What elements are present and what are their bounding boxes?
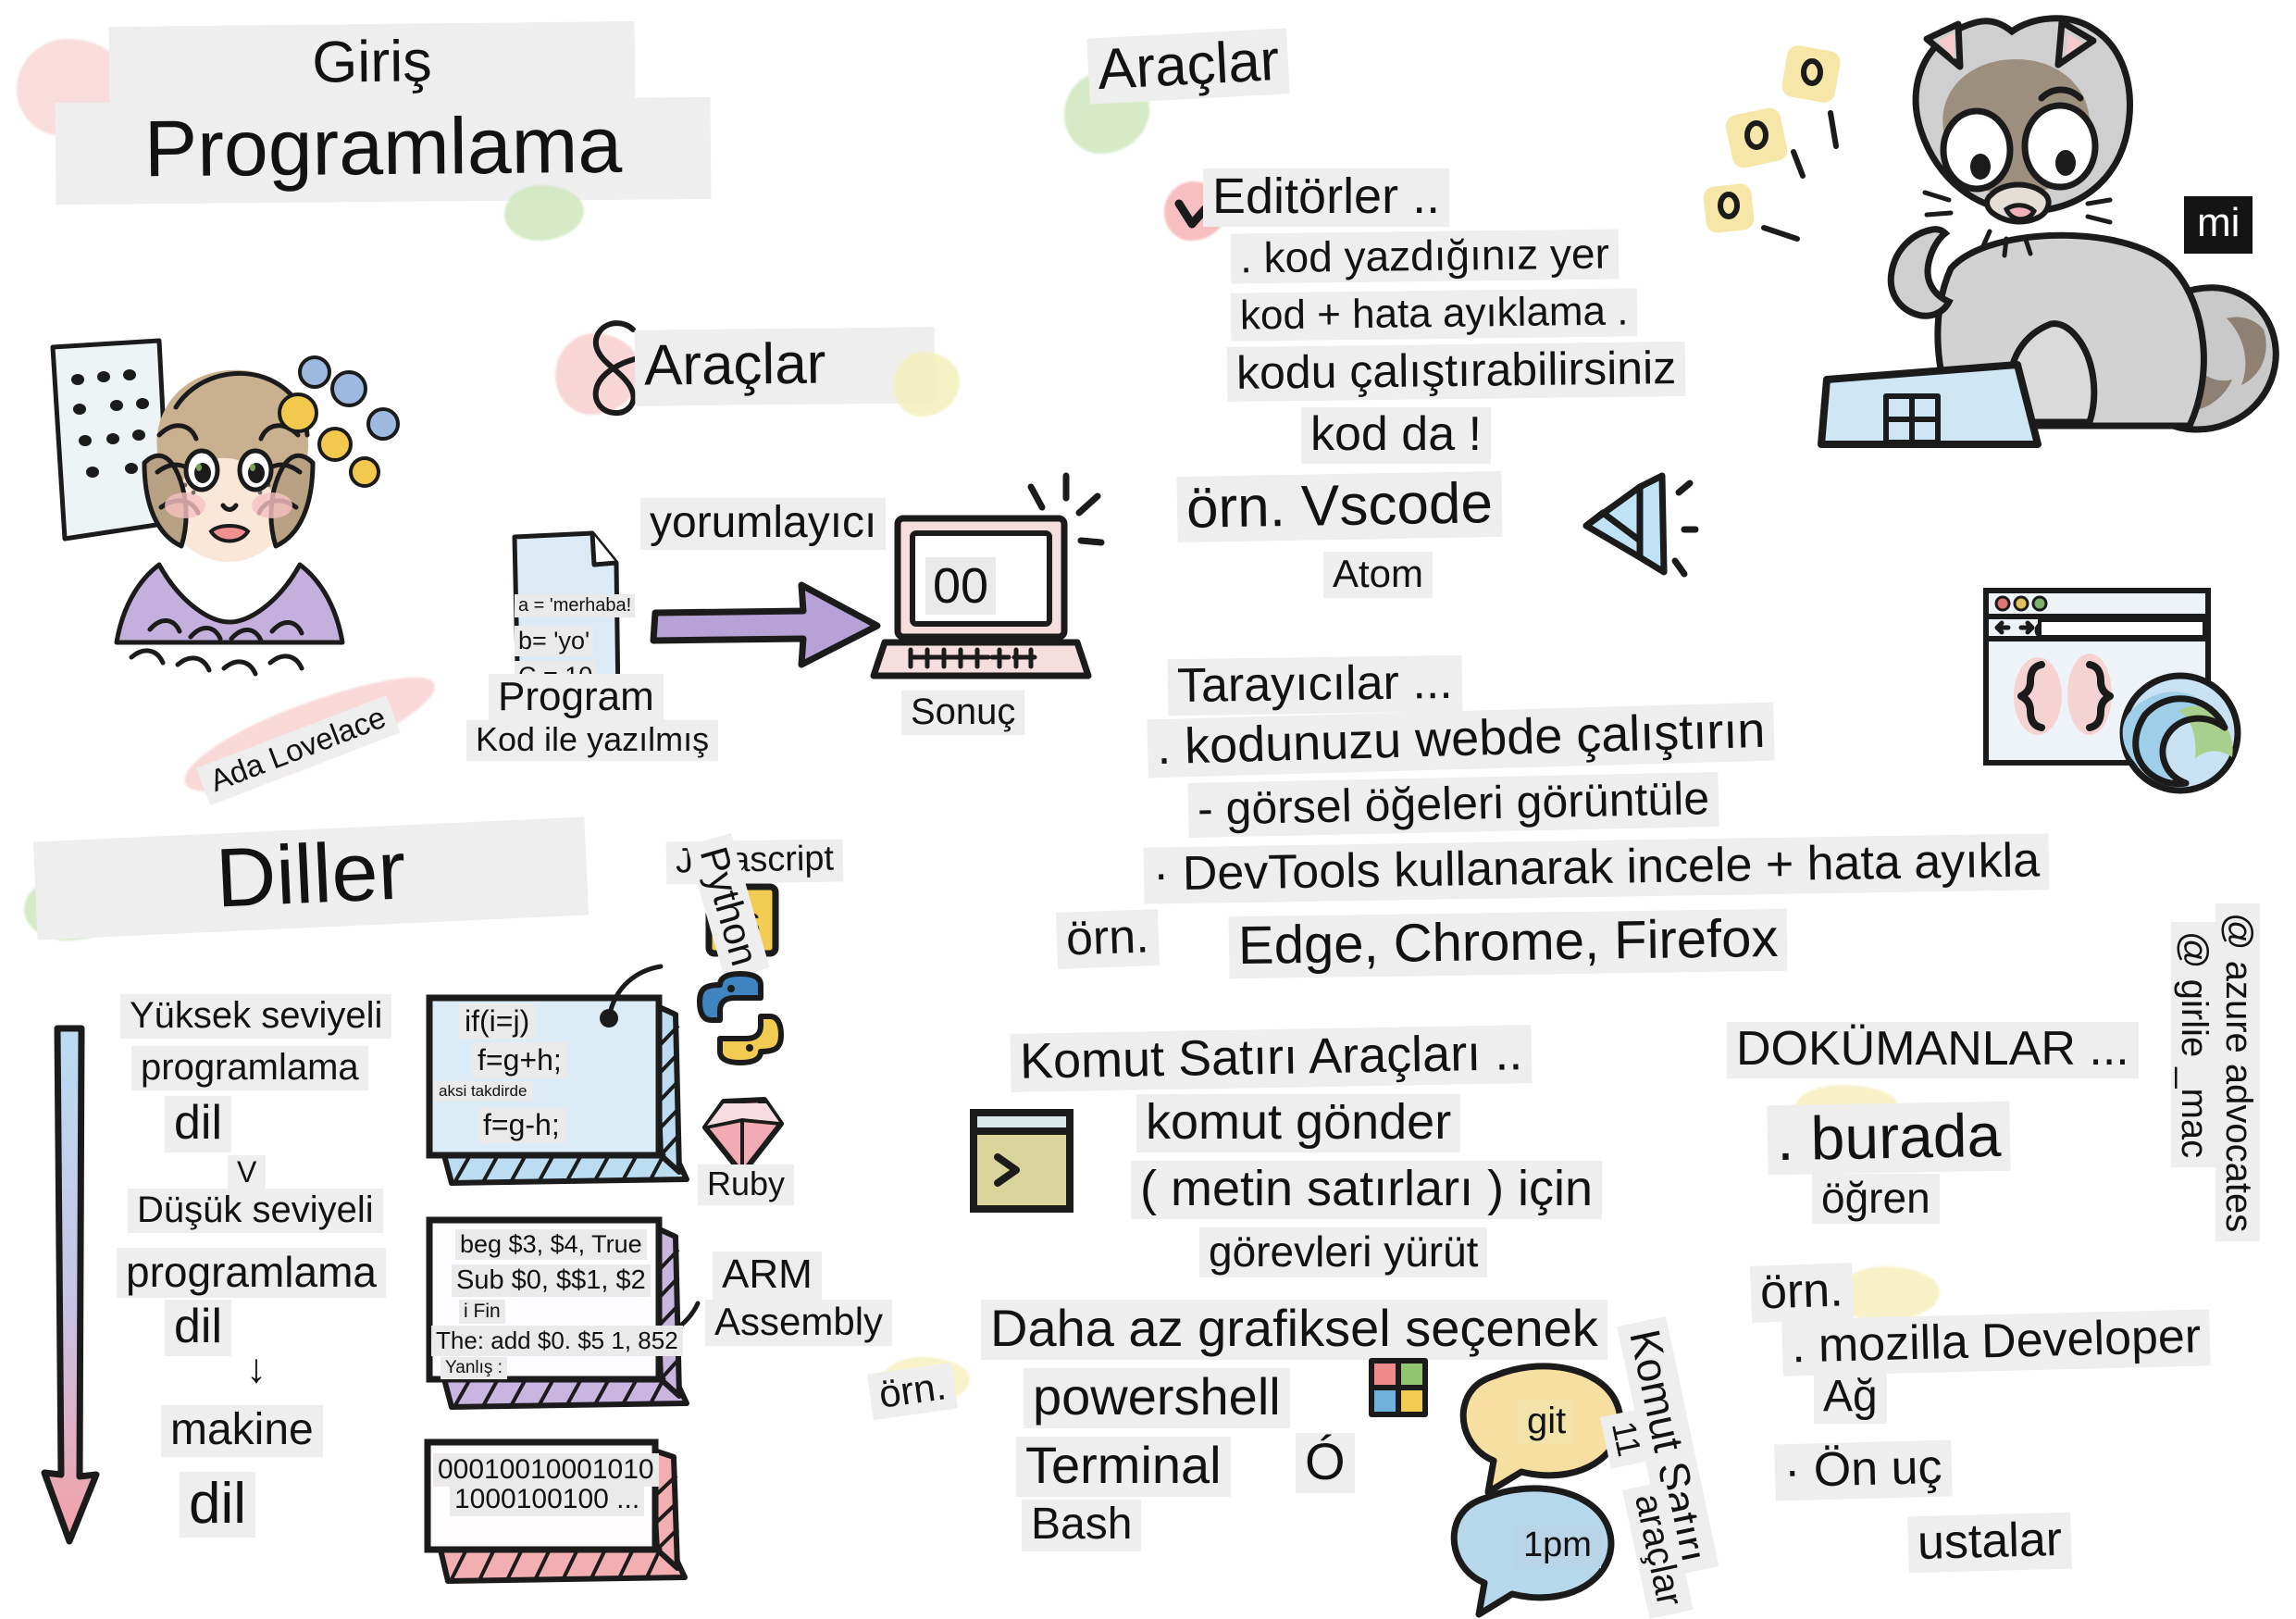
- editors-bullet-4: kod da !: [1301, 407, 1491, 464]
- editors-bullet-3: kodu çalıştırabilirsiniz: [1227, 342, 1686, 402]
- cli-heading: Komut Satırı Araçları ..: [1010, 1025, 1532, 1092]
- cli-example-powershell: powershell: [1024, 1368, 1290, 1428]
- browsers-heading: Tarayıcılar ...: [1168, 655, 1462, 716]
- docs-example-frontend: · Ön uç: [1774, 1440, 1952, 1501]
- ladder-step-3: dil: [165, 1096, 231, 1152]
- assembly-code-line-5: Yanlış :: [441, 1357, 507, 1379]
- result-label: Sonuç: [901, 691, 1024, 735]
- docs-heading: DOKÜMANLAR ...: [1727, 1022, 2139, 1078]
- ladder-step-9: makine: [161, 1405, 323, 1457]
- abstraction-level-arrow: [41, 1023, 105, 1551]
- browsers-example-list: Edge, Chrome, Firefox: [1229, 909, 1788, 978]
- docs-example-masters: ustalar: [1907, 1513, 2072, 1573]
- sketchnote-canvas: Giriş Programlama Araçlar: [0, 0, 2296, 1619]
- assembly-code-line-3: i Fin: [459, 1300, 505, 1324]
- vscode-icon: [1566, 468, 1695, 589]
- docs-example-prefix: örn.: [1750, 1263, 1854, 1322]
- cli-note: Daha az grafiksel seçenek: [981, 1300, 1607, 1360]
- ladder-step-1: Yüksek seviyeli: [120, 994, 391, 1039]
- program-label: Program: [489, 674, 664, 722]
- cli-bullet-2: ( metin satırları ) için: [1131, 1161, 1602, 1219]
- python-icon: [694, 972, 787, 1065]
- ladder-step-2: programlama: [131, 1046, 368, 1090]
- credit-azure-advocates: @ azure advocates: [2215, 903, 2260, 1241]
- language-tag-ruby: Ruby: [698, 1164, 794, 1205]
- terminal-icon: [964, 1103, 1085, 1224]
- page-title: Programlama: [56, 97, 712, 205]
- assembly-tag-line-1: ARM: [713, 1252, 822, 1300]
- ladder-step-4: V: [228, 1155, 266, 1192]
- ladder-step-10: dil: [180, 1472, 255, 1538]
- program-sublabel: Kod ile yazılmış: [466, 720, 718, 761]
- browser-window-illustration: [1980, 585, 2249, 807]
- docs-lead-sub: öğren: [1812, 1174, 1940, 1224]
- interpreter-arrow: [648, 574, 888, 676]
- windows-logo-icon: [1364, 1353, 1434, 1424]
- machine-code-line-1: 00010010001010: [433, 1453, 659, 1487]
- green-blob-title: [504, 185, 584, 241]
- high-level-code-line-3: aksi takdirde: [433, 1081, 532, 1102]
- editors-bullet-2: kod + hata ayıklama .: [1231, 288, 1638, 342]
- browsers-bullet-3: · DevTools kullanarak incele + hata ayık…: [1144, 833, 2050, 903]
- languages-heading: Diller: [33, 817, 589, 940]
- high-level-code-line-2: f=g+h;: [472, 1042, 567, 1078]
- assembly-tag-line-2: Assembly: [705, 1300, 892, 1346]
- credit-girlie-mac: @ girlie _mac: [2171, 922, 2215, 1167]
- ladder-step-7: dil: [165, 1300, 231, 1356]
- result-sparkle: [1009, 470, 1111, 591]
- editors-example-alt: Atom: [1323, 552, 1433, 598]
- cli-terminal-suffix: Ó: [1296, 1433, 1355, 1493]
- editors-bullet-1: . kod yazdığınız yer: [1231, 229, 1620, 283]
- tools-heading: Araçlar: [1086, 28, 1290, 104]
- cli-example-bash: Bash: [1022, 1500, 1141, 1551]
- ladder-step-8: ↓: [237, 1346, 276, 1394]
- browsers-bullet-2: - görsel öğeleri görüntüle: [1187, 772, 1719, 837]
- yellow-blob-docs-example: [1838, 1266, 1940, 1322]
- assembly-code-line-2: Sub $0, $$1, $2: [452, 1264, 651, 1297]
- docs-example-network: Ağ: [1814, 1372, 1887, 1424]
- intro-subtitle: Araçlar: [635, 327, 936, 405]
- program-code-line-2: b= 'yo': [515, 626, 593, 656]
- cli-bullet-3: görevleri yürüt: [1199, 1227, 1487, 1277]
- interpreter-label: yorumlayıcı: [640, 498, 886, 550]
- cli-example-prefix: örn.: [867, 1363, 958, 1420]
- intro-kicker: Giriş: [109, 21, 636, 105]
- speech-bubble-time-label: 1pm: [1514, 1526, 1601, 1568]
- cli-bullet-1: komut gönder: [1136, 1094, 1460, 1152]
- assembly-code-line-1: beg $3, $4, True: [455, 1229, 647, 1260]
- assembly-code-line-4: The: add $0. $5 1, 852: [431, 1326, 683, 1356]
- high-level-code-line-1: if(i=j): [459, 1003, 535, 1040]
- ladder-step-6: programlama: [117, 1248, 386, 1298]
- result-screen-value: 00: [925, 557, 996, 615]
- ladder-step-5: Düşük seviyeli: [128, 1189, 383, 1233]
- mascot-badge: mi: [2184, 196, 2253, 254]
- speech-bubble-git-label: git: [1518, 1400, 1575, 1444]
- yellow-blob-subtitle: [893, 352, 960, 417]
- cli-example-terminal: Terminal: [1016, 1437, 1231, 1497]
- docs-example-mozilla: . mozilla Developer: [1781, 1309, 2211, 1376]
- high-level-code-line-4: f=g-h;: [478, 1107, 565, 1143]
- program-code-line-1: a = 'merhaba!: [515, 594, 635, 617]
- editors-heading: Editörler ..: [1203, 168, 1449, 227]
- editors-example: örn. Vscode: [1176, 471, 1502, 542]
- browsers-example-prefix: örn.: [1056, 909, 1160, 968]
- machine-code-line-2: 1000100100 ...: [450, 1483, 644, 1516]
- docs-lead: . burada: [1767, 1102, 2010, 1176]
